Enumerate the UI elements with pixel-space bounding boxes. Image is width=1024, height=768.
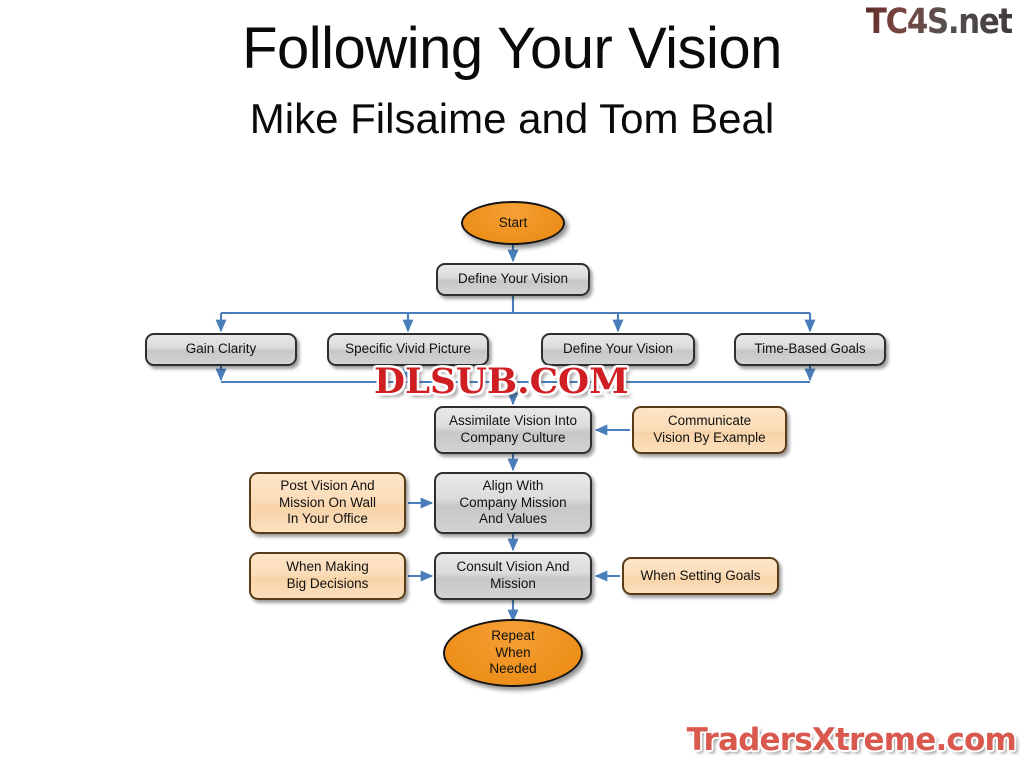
node-align-with-company-mission-label: Align With Company Mission And Values (459, 478, 566, 529)
watermark-tradersxtreme: TradersXtreme.com (687, 722, 1016, 758)
node-gain-clarity-label: Gain Clarity (186, 341, 257, 358)
node-assimilate-vision[interactable]: Assimilate Vision Into Company Culture (434, 406, 592, 454)
node-when-making-big-decisions[interactable]: When Making Big Decisions (249, 552, 406, 600)
node-communicate-vision[interactable]: Communicate Vision By Example (632, 406, 787, 454)
node-specific-vivid-picture-label: Specific Vivid Picture (345, 341, 471, 358)
node-align-with-company-mission[interactable]: Align With Company Mission And Values (434, 472, 592, 534)
slide-canvas: Following Your Vision Mike Filsaime and … (0, 0, 1024, 768)
node-when-making-big-decisions-label: When Making Big Decisions (286, 559, 369, 593)
watermark-dlsub: DLSUB.COM (374, 361, 629, 402)
node-repeat-when-needed[interactable]: Repeat When Needed (443, 619, 583, 687)
node-consult-vision-and-mission[interactable]: Consult Vision And Mission (434, 552, 592, 600)
node-assimilate-vision-label: Assimilate Vision Into Company Culture (449, 413, 577, 447)
node-post-vision-on-wall-label: Post Vision And Mission On Wall In Your … (279, 478, 376, 529)
node-gain-clarity[interactable]: Gain Clarity (145, 333, 297, 366)
node-communicate-vision-label: Communicate Vision By Example (653, 413, 765, 447)
node-define-your-vision[interactable]: Define Your Vision (436, 263, 590, 296)
node-post-vision-on-wall[interactable]: Post Vision And Mission On Wall In Your … (249, 472, 406, 534)
node-start-label: Start (499, 215, 528, 232)
page-subtitle: Mike Filsaime and Tom Beal (0, 96, 1024, 142)
node-define-your-vision-label: Define Your Vision (458, 271, 568, 288)
node-when-setting-goals-label: When Setting Goals (640, 568, 760, 585)
node-define-your-vision-2-label: Define Your Vision (563, 341, 673, 358)
node-time-based-goals[interactable]: Time-Based Goals (734, 333, 886, 366)
watermark-tc4s: TC4S.net (866, 2, 1012, 42)
node-start[interactable]: Start (461, 201, 565, 245)
node-consult-vision-and-mission-label: Consult Vision And Mission (456, 559, 569, 593)
node-when-setting-goals[interactable]: When Setting Goals (622, 557, 779, 595)
node-repeat-when-needed-label: Repeat When Needed (489, 628, 536, 679)
node-time-based-goals-label: Time-Based Goals (754, 341, 865, 358)
